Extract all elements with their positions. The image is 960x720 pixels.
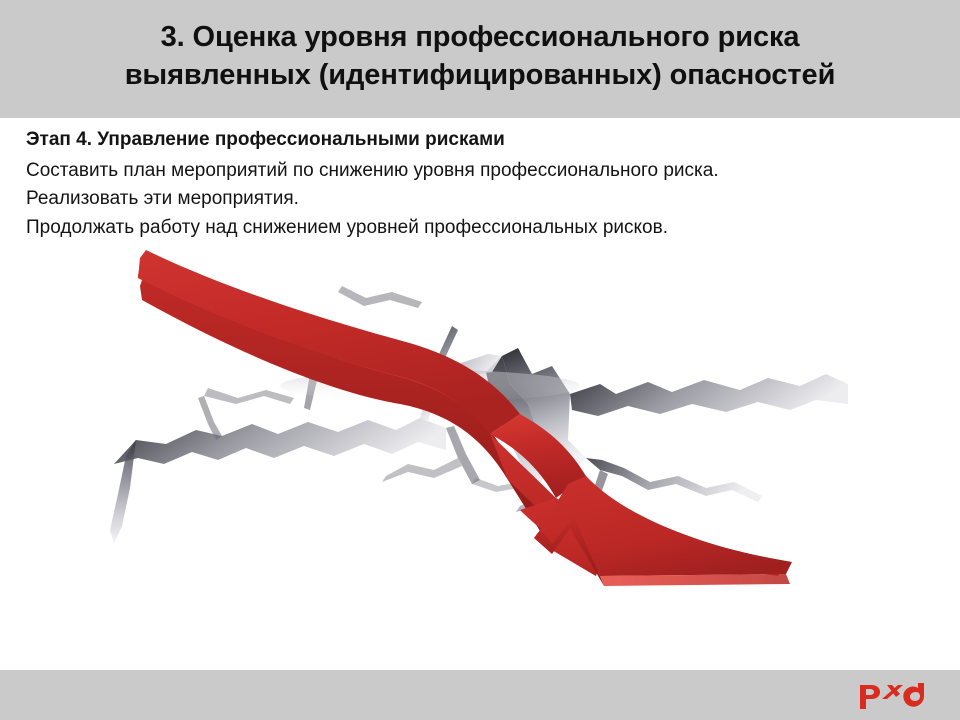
slide-root: 3. Оценка уровня профессионального риска…: [0, 0, 960, 720]
body-line-1: Составить план мероприятий по снижению у…: [26, 157, 936, 186]
rzd-logo-icon: [858, 680, 926, 710]
rzd-logo: [858, 680, 926, 710]
illustration-red-arrow-cracked-ground: [100, 244, 860, 644]
title-line-1: 3. Оценка уровня профессионального риска: [8, 18, 952, 56]
illustration-svg: [100, 244, 860, 644]
body-text-block: Этап 4. Управление профессиональными рис…: [26, 126, 936, 243]
body-heading: Этап 4. Управление профессиональными рис…: [26, 126, 936, 155]
title-line-2: выявленных (идентифицированных) опасност…: [8, 56, 952, 94]
body-line-2: Реализовать эти мероприятия.: [26, 185, 936, 214]
footer-band: [0, 670, 960, 720]
page-title: 3. Оценка уровня профессионального риска…: [0, 18, 960, 95]
body-line-3: Продолжать работу над снижением уровней …: [26, 214, 936, 243]
